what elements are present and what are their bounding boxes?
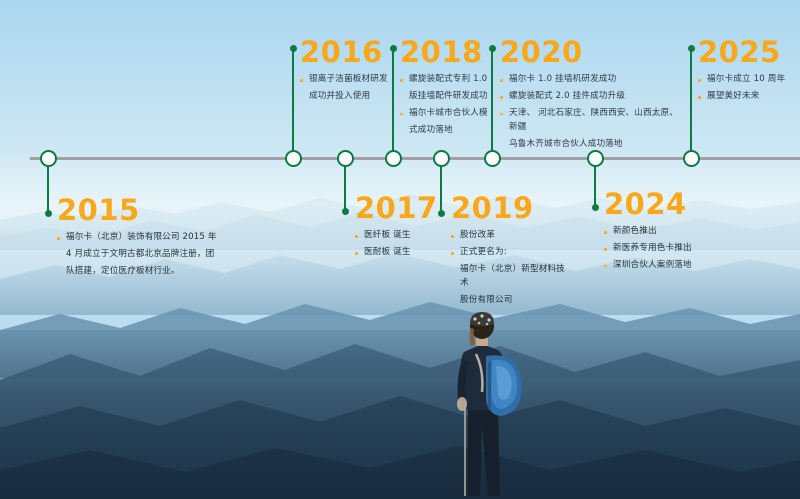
milestone-bullets-2020: 福尔卡 1.0 挂墙机研发成功 螺旋装配式 2.0 挂件成功升级 天津、 河北石…: [500, 73, 686, 152]
bullet-item-cont: 式成功落地: [400, 124, 500, 138]
timeline-stem-2016: [292, 48, 294, 153]
milestone-year-2015: 2015: [57, 196, 217, 225]
milestone-bullets-2024: 新颜色推出 新医养专用色卡推出 深圳合伙人案例落地: [604, 225, 724, 273]
timeline-node-2017[interactable]: [337, 150, 354, 167]
milestone-year-2024: 2024: [604, 190, 724, 219]
milestone-bullets-2015: 福尔卡（北京）装饰有限公司 2015 年 4 月成立于文明古都北京品牌注册，团 …: [57, 231, 217, 279]
timeline-node-2016[interactable]: [285, 150, 302, 167]
milestone-2015: 2015 福尔卡（北京）装饰有限公司 2015 年 4 月成立于文明古都北京品牌…: [57, 196, 217, 282]
foreground-shadow: [0, 330, 800, 499]
milestone-year-2020: 2020: [500, 38, 686, 67]
bullet-item-cont: 乌鲁木齐城市合伙人成功落地: [500, 138, 686, 152]
timeline-node-2020[interactable]: [484, 150, 501, 167]
milestone-bullets-2016: 银离子洁菌板材研发 成功并投入使用: [300, 73, 396, 104]
bullet-item: 正式更名为:: [451, 246, 571, 260]
milestone-2016: 2016 银离子洁菌板材研发 成功并投入使用: [300, 38, 396, 107]
bullet-item-cont: 队搭建，定位医疗板材行业。: [57, 265, 217, 279]
milestone-2018: 2018 螺旋装配式专利 1.0 版挂墙配件研发成功 福尔卡城市合伙人模 式成功…: [400, 38, 500, 141]
timeline-stem-2024: [594, 166, 596, 208]
timeline-node-2018[interactable]: [385, 150, 402, 167]
milestone-2024: 2024 新颜色推出 新医养专用色卡推出 深圳合伙人案例落地: [604, 190, 724, 276]
bullet-item: 医纤板 诞生: [355, 229, 441, 243]
bullet-item-cont: 成功并投入使用: [300, 90, 396, 104]
bullet-item: 新颜色推出: [604, 225, 724, 239]
bullet-item: 深圳合伙人案例落地: [604, 259, 724, 273]
timeline-stem-2015: [47, 166, 49, 214]
bullet-item: 医耐板 诞生: [355, 246, 441, 260]
timeline-infographic: 2015 福尔卡（北京）装饰有限公司 2015 年 4 月成立于文明古都北京品牌…: [0, 0, 800, 499]
bullet-item: 福尔卡成立 10 周年: [698, 73, 798, 87]
bullet-item: 天津、 河北石家庄、陕西西安、山西太原、新疆: [500, 107, 686, 135]
bullet-item: 新医养专用色卡推出: [604, 242, 724, 256]
milestone-year-2017: 2017: [355, 194, 441, 223]
milestone-2019: 2019 股份改革 正式更名为: 福尔卡（北京）新型材料技术 股份有限公司: [451, 194, 571, 311]
bullet-item: 福尔卡城市合伙人模: [400, 107, 500, 121]
timeline-stem-2025: [690, 48, 692, 153]
bullet-item-cont: 股份有限公司: [451, 294, 571, 308]
timeline-stem-dot-2017: [342, 208, 349, 215]
milestone-year-2016: 2016: [300, 38, 396, 67]
bullet-item: 银离子洁菌板材研发: [300, 73, 396, 87]
bullet-item: 展望美好未来: [698, 90, 798, 104]
milestone-year-2025: 2025: [698, 38, 798, 67]
bullet-item: 福尔卡 1.0 挂墙机研发成功: [500, 73, 686, 87]
milestone-bullets-2017: 医纤板 诞生 医耐板 诞生: [355, 229, 441, 260]
timeline-stem-dot-2025: [688, 45, 695, 52]
bullet-item: 股份改革: [451, 229, 571, 243]
milestone-year-2019: 2019: [451, 194, 571, 223]
milestone-year-2018: 2018: [400, 38, 500, 67]
milestone-2017: 2017 医纤板 诞生 医耐板 诞生: [355, 194, 441, 263]
timeline-node-2015[interactable]: [40, 150, 57, 167]
milestone-bullets-2018: 螺旋装配式专利 1.0 版挂墙配件研发成功 福尔卡城市合伙人模 式成功落地: [400, 73, 500, 138]
timeline-stem-dot-2016: [290, 45, 297, 52]
bullet-item: 福尔卡（北京）装饰有限公司 2015 年: [57, 231, 217, 245]
milestone-bullets-2025: 福尔卡成立 10 周年 展望美好未来: [698, 73, 798, 104]
bullet-item: 螺旋装配式 2.0 挂件成功升级: [500, 90, 686, 104]
timeline-stem-dot-2015: [45, 210, 52, 217]
timeline-stem-dot-2024: [592, 204, 599, 211]
timeline-stem-2017: [344, 166, 346, 212]
milestone-2020: 2020 福尔卡 1.0 挂墙机研发成功 螺旋装配式 2.0 挂件成功升级 天津…: [500, 38, 686, 155]
bullet-item-cont: 4 月成立于文明古都北京品牌注册，团: [57, 248, 217, 262]
hiker-figure: [424, 300, 544, 499]
milestone-bullets-2019: 股份改革 正式更名为: 福尔卡（北京）新型材料技术 股份有限公司: [451, 229, 571, 308]
bullet-item: 螺旋装配式专利 1.0: [400, 73, 500, 87]
bullet-item-cont: 版挂墙配件研发成功: [400, 90, 500, 104]
milestone-2025: 2025 福尔卡成立 10 周年 展望美好未来: [698, 38, 798, 107]
timeline-node-2019[interactable]: [433, 150, 450, 167]
bullet-item-cont: 福尔卡（北京）新型材料技术: [451, 263, 571, 291]
